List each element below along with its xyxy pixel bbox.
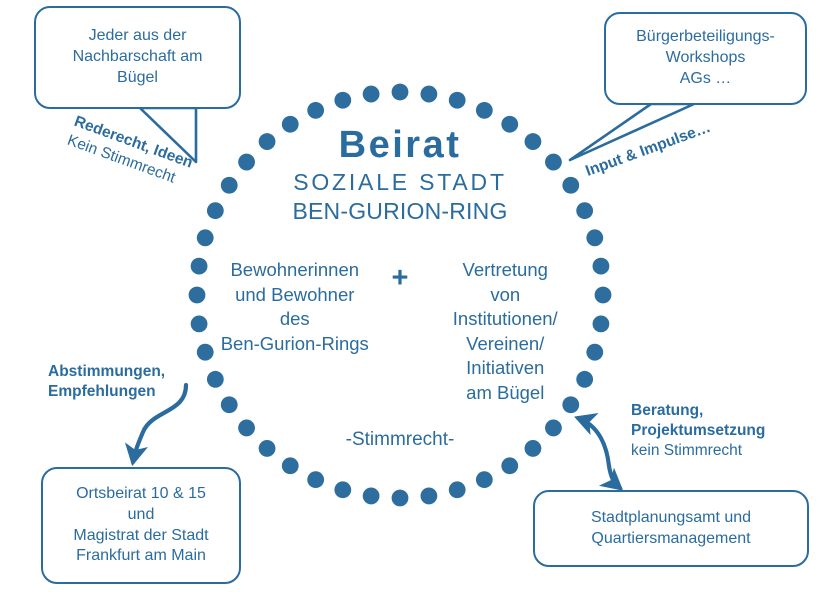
members-residents-line-3: des (210, 307, 380, 332)
box-stadtplanungsamt-text: Stadtplanungsamt und Quartiersmanagement (533, 490, 809, 567)
members-institutions: Vertretung von Institutionen/ Vereinen/ … (420, 258, 590, 406)
ring-dot (334, 481, 351, 498)
ring-dot (420, 86, 437, 103)
connector-label-beratung-line-3: kein Stimmrecht (631, 441, 765, 461)
ring-dot (593, 258, 610, 275)
members-residents-line-1: Bewohnerinnen (210, 258, 380, 283)
center-subtitle-1: SOZIALE STADT (230, 168, 570, 197)
ring-dot (191, 315, 208, 332)
members-residents: Bewohnerinnen und Bewohner des Ben-Gurio… (210, 258, 380, 356)
box-ortsbeirat-line-1: Ortsbeirat 10 & 15 (70, 484, 212, 505)
box-ortsbeirat-text: Ortsbeirat 10 & 15 und Magistrat der Sta… (41, 467, 241, 584)
box-stadtplanungsamt-line-1: Stadtplanungsamt und (585, 508, 757, 529)
connector-label-abstimmungen: Abstimmungen, Empfehlungen (48, 362, 165, 402)
voting-right-note: -Stimmrecht- (300, 429, 500, 451)
ring-dot (392, 490, 409, 507)
ring-dot (197, 229, 214, 246)
box-ortsbeirat-line-3: Magistrat der Stadt (67, 526, 214, 547)
bubble-workshops-text-line-1: Bürgerbeteiligungs- (630, 27, 781, 48)
members-residents-line-4: Ben-Gurion-Rings (210, 332, 380, 357)
ring-dot (545, 420, 562, 437)
arrow-beratung-bidirectional (578, 418, 620, 488)
ring-dot (238, 420, 255, 437)
ring-dot (392, 84, 409, 101)
connector-label-abstimmungen-line-1: Abstimmungen, (48, 362, 165, 382)
center-title-block: Beirat SOZIALE STADT BEN-GURION-RING (230, 126, 570, 225)
ring-dot (307, 102, 324, 119)
connector-label-beratung-line-2: Projektumsetzung (631, 421, 765, 441)
ring-dot (307, 471, 324, 488)
ring-dot (576, 202, 593, 219)
members-institutions-line-3: Institutionen/ (420, 307, 590, 332)
ring-dot (282, 457, 299, 474)
members-institutions-line-2: von (420, 283, 590, 308)
bubble-workshops-text: Bürgerbeteiligungs- Workshops AGs … (604, 12, 807, 105)
bubble-neighborhood-text-line-3: Bügel (111, 68, 164, 89)
council-members-row: Bewohnerinnen und Bewohner des Ben-Gurio… (210, 258, 590, 406)
bubble-neighborhood-text-line-2: Nachbarschaft am (67, 47, 209, 68)
ring-dot (207, 202, 224, 219)
ring-dot (363, 488, 380, 505)
center-subtitle-2: BEN-GURION-RING (230, 197, 570, 225)
page-title: Beirat (230, 126, 570, 166)
ring-dot (525, 440, 542, 457)
ring-dot (593, 315, 610, 332)
members-institutions-line-6: am Bügel (420, 381, 590, 406)
bubble-neighborhood-text: Jeder aus der Nachbarschaft am Bügel (34, 6, 241, 109)
bubble-workshops-text-line-3: AGs … (674, 69, 738, 90)
ring-dot (191, 258, 208, 275)
connector-label-beratung: Beratung, Projektumsetzung kein Stimmrec… (631, 401, 765, 460)
diagram-canvas: Jeder aus der Nachbarschaft am Bügel Bür… (0, 0, 820, 600)
ring-dot (363, 86, 380, 103)
plus-icon: + (380, 258, 421, 293)
ring-dot (449, 481, 466, 498)
ring-dot (476, 102, 493, 119)
box-ortsbeirat-line-2: und (122, 505, 161, 526)
ring-dot (586, 229, 603, 246)
members-institutions-line-5: Initiativen (420, 356, 590, 381)
members-institutions-line-4: Vereinen/ (420, 332, 590, 357)
box-ortsbeirat-line-4: Frankfurt am Main (70, 546, 212, 567)
ring-dot (189, 287, 206, 304)
ring-dot (595, 287, 612, 304)
ring-dot (420, 488, 437, 505)
ring-dot (259, 440, 276, 457)
ring-dot (476, 471, 493, 488)
box-stadtplanungsamt-line-2: Quartiersmanagement (585, 529, 756, 550)
members-residents-line-2: und Bewohner (210, 283, 380, 308)
connector-label-beratung-line-1: Beratung, (631, 401, 765, 421)
ring-dot (449, 92, 466, 109)
ring-dot (334, 92, 351, 109)
members-institutions-line-1: Vertretung (420, 258, 590, 283)
bubble-neighborhood-text-line-1: Jeder aus der (83, 26, 193, 47)
connector-label-abstimmungen-line-2: Empfehlungen (48, 382, 165, 402)
ring-dot (501, 457, 518, 474)
bubble-workshops-text-line-2: Workshops (660, 48, 752, 69)
